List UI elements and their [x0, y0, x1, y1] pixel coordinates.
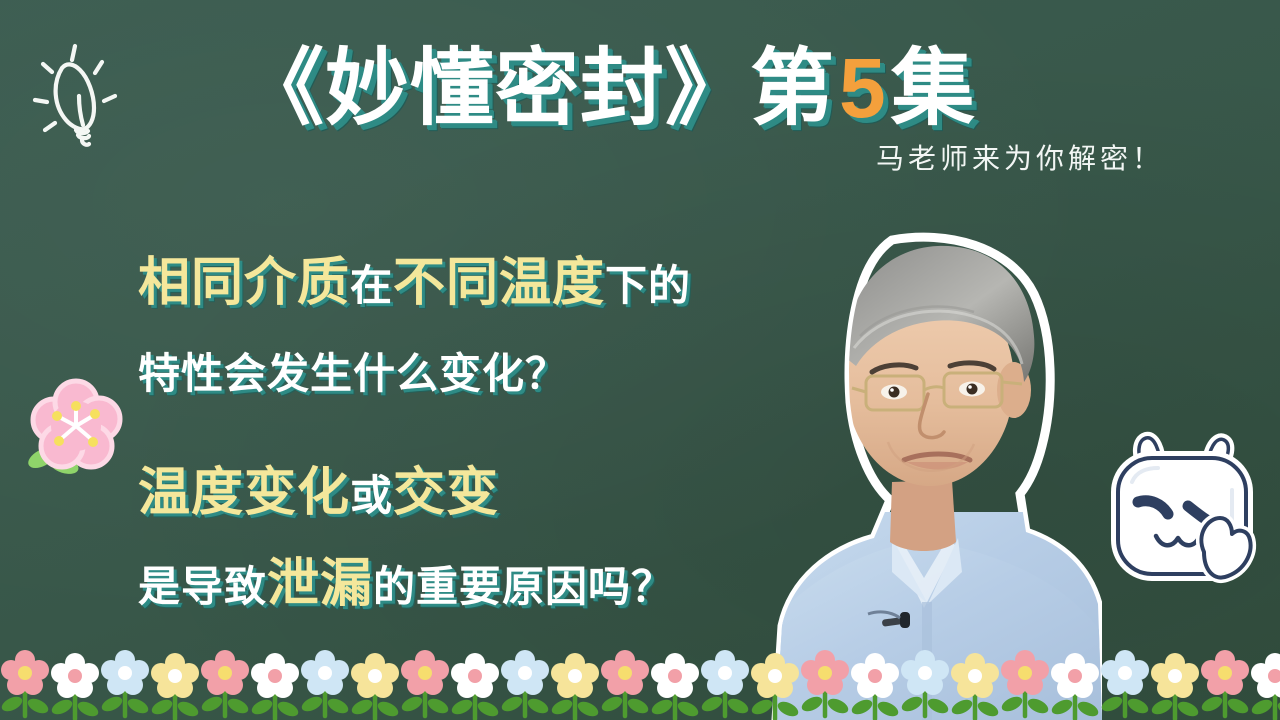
border-flower-icon: [150, 642, 200, 720]
text-segment: 相同介质: [138, 254, 350, 312]
text-segment: 下的: [605, 262, 691, 309]
title-prefix: 《妙懂密封》第: [240, 41, 835, 135]
text-segment: 泄漏: [267, 555, 373, 613]
border-flower-icon: [1250, 642, 1280, 720]
border-flower-icon: [200, 642, 250, 720]
question-line: 是导致泄漏的重要原因吗？: [138, 553, 674, 628]
lightbulb-doodle-icon: [18, 26, 138, 156]
text-segment: 温度变化: [138, 464, 350, 522]
text-segment: 的重要原因吗？: [373, 563, 674, 610]
border-flower-icon: [250, 642, 300, 720]
border-flower-icon: [1200, 642, 1250, 720]
border-flower-icon: [0, 642, 50, 720]
text-segment: 不同温度: [393, 254, 605, 312]
border-flower-icon: [500, 642, 550, 720]
page-title: 《妙懂密封》第5集: [240, 40, 1180, 136]
border-flower-icon: [450, 642, 500, 720]
border-flower-icon: [550, 642, 600, 720]
episode-number: 5: [835, 41, 891, 135]
border-flower-icon: [100, 642, 150, 720]
question-line: 特性会发生什么变化？: [138, 343, 691, 415]
text-segment: 特性会发生什么变化？: [138, 350, 568, 397]
question-block-1: 相同介质在不同温度下的 特性会发生什么变化？: [138, 252, 691, 415]
border-flower-icon: [50, 642, 100, 720]
text-segment: 交变: [393, 464, 499, 522]
question-line: 相同介质在不同温度下的: [138, 252, 691, 327]
bilibili-mascot-sticker: [1096, 424, 1272, 596]
question-block-2: 温度变化或交变 是导致泄漏的重要原因吗？: [138, 462, 674, 628]
text-segment: 在: [350, 262, 393, 309]
border-flower-icon: [1150, 642, 1200, 720]
title-suffix: 集: [891, 41, 976, 135]
video-thumbnail: 《妙懂密封》第5集 马老师来为你解密！ 相同介质在不同温度下的 特性会发生什么变…: [0, 0, 1280, 720]
border-flower-icon: [650, 642, 700, 720]
text-segment: 或: [350, 472, 393, 519]
question-line: 温度变化或交变: [138, 462, 674, 537]
border-flower-icon: [350, 642, 400, 720]
text-segment: 是导致: [138, 563, 267, 610]
border-flower-icon: [600, 642, 650, 720]
title-subtitle: 马老师来为你解密！: [240, 142, 1180, 176]
presenter-photo: [742, 232, 1102, 720]
pink-flower-icon: [14, 372, 126, 478]
border-flower-icon: [300, 642, 350, 720]
border-flower-icon: [1100, 642, 1150, 720]
border-flower-icon: [400, 642, 450, 720]
title-block: 《妙懂密封》第5集 马老师来为你解密！: [240, 40, 1180, 176]
